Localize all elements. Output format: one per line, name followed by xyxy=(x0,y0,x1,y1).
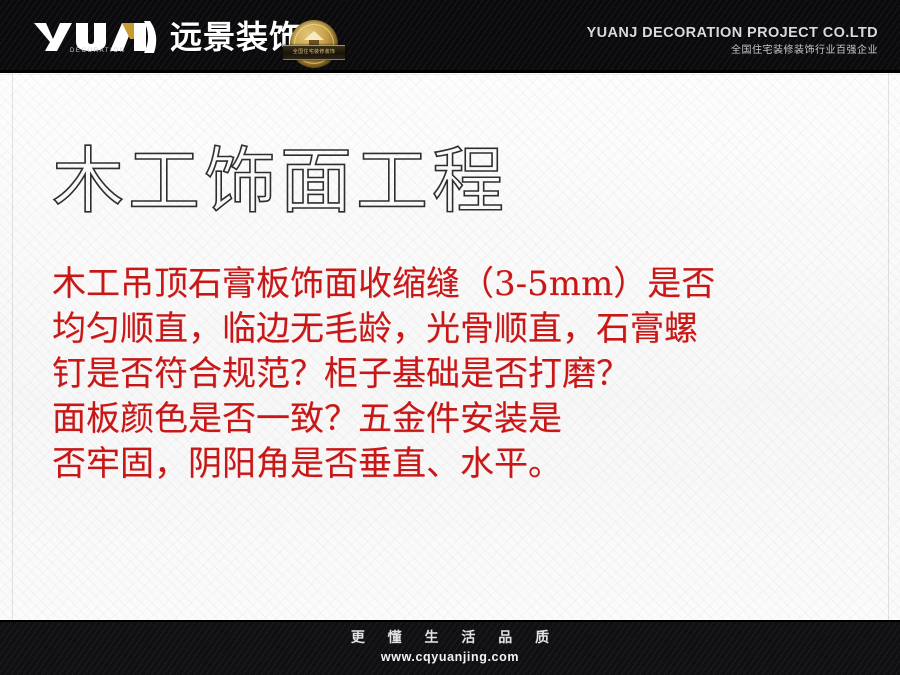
company-tagline-cn: 全国住宅装修装饰行业百强企业 xyxy=(587,45,878,56)
slide-body-text: 木工吊顶石膏板饰面收缩缝（3-5mm）是否 均匀顺直，临边无毛龄，光骨顺直，石膏… xyxy=(52,262,852,487)
content-left-guide xyxy=(12,73,13,620)
body-line-1: 木工吊顶石膏板饰面收缩缝（3-5mm）是否 xyxy=(52,262,852,307)
footer-content: 更 懂 生 活 品 质 www.cqyuanjing.com xyxy=(0,630,900,665)
presentation-slide: DECORATION 远景装饰 全国住宅装修装饰 YUANJ DECORATIO… xyxy=(0,0,900,675)
brand-logo: DECORATION 远景装饰 xyxy=(26,13,302,61)
content-top-divider xyxy=(0,74,900,75)
slide-footer-bar: 更 懂 生 活 品 质 www.cqyuanjing.com xyxy=(0,620,900,675)
company-identity: YUANJ DECORATION PROJECT CO.LTD 全国住宅装修装饰… xyxy=(587,26,878,56)
slide-header-bar: DECORATION 远景装饰 全国住宅装修装饰 YUANJ DECORATIO… xyxy=(0,0,900,73)
body-line-4: 面板颜色是否一致？五金件安装是 xyxy=(52,397,852,442)
gold-seal-badge-icon: 全国住宅装修装饰 xyxy=(283,19,345,69)
body-line-5: 否牢固，阴阳角是否垂直、水平。 xyxy=(52,442,852,487)
company-name-en: YUANJ DECORATION PROJECT CO.LTD xyxy=(587,26,878,42)
body-line-3: 钉是否符合规范？柜子基础是否打磨？ xyxy=(52,352,852,397)
page-title: 木工饰面工程 xyxy=(52,145,508,217)
footer-tagline: 更 懂 生 活 品 质 xyxy=(0,630,900,647)
content-right-guide xyxy=(888,73,889,620)
body-line-2: 均匀顺直，临边无毛龄，光骨顺直，石膏螺 xyxy=(52,307,852,352)
footer-website-url[interactable]: www.cqyuanjing.com xyxy=(0,650,900,665)
logo-subtext: DECORATION xyxy=(70,48,126,54)
yuanj-logo-icon: DECORATION xyxy=(26,13,176,61)
badge-disc xyxy=(290,20,338,68)
badge-ribbon-label: 全国住宅装修装饰 xyxy=(283,46,345,59)
badge-ribbon: 全国住宅装修装饰 xyxy=(283,45,345,60)
